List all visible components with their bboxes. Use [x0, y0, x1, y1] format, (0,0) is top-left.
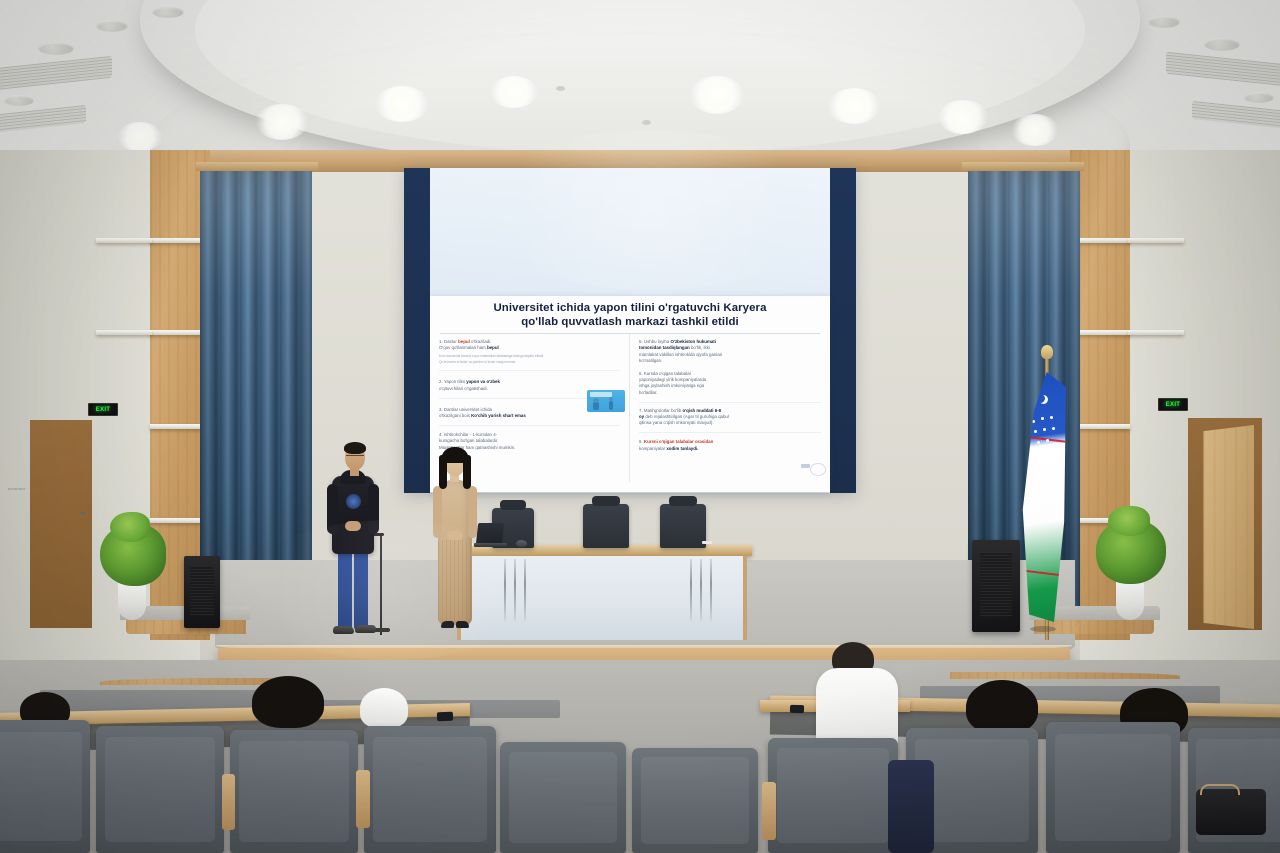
- ceiling-spotlight: [118, 122, 162, 152]
- slide-title: Universitet ichida yapon tilini o'rgatuv…: [430, 296, 830, 332]
- smartphone-icon[interactable]: [790, 705, 804, 713]
- audience-seat: [96, 726, 224, 853]
- audience-seat: [632, 748, 758, 853]
- slide-illustration-icon: [587, 390, 625, 412]
- chat-bubble-icon: [810, 463, 826, 476]
- presidium-chair: [660, 504, 706, 548]
- ceiling-speaker-grille-icon: [152, 6, 184, 18]
- ceiling-speaker-grille-icon: [38, 42, 74, 55]
- slide-bullet: 7. Mashg'ulotlar bo'lib o'qish muddati 6…: [639, 408, 821, 427]
- smoke-detector-icon: [642, 120, 651, 125]
- exit-sign-right-label: EXIT: [1166, 402, 1181, 408]
- slide-bullet: 6. Kursda o'qigan talabalar yaponiyadagi…: [639, 371, 821, 396]
- ceiling-spotlight: [690, 76, 744, 114]
- slide-title-line-2: qo'llab quvvatlash markazi tashkil etild…: [444, 316, 816, 330]
- ceiling-speaker-grille-icon: [96, 20, 128, 32]
- presidium-chair-headrest: [500, 500, 526, 510]
- wall-shelf: [96, 330, 152, 335]
- bag: [1196, 789, 1266, 835]
- presidium-chair-headrest: [669, 496, 697, 506]
- door-right-open[interactable]: [1203, 425, 1254, 629]
- screen-side-bar-left: [404, 168, 430, 493]
- slide-bullet: 4. Ishtirokchilar - 1-kursdan 4- kursgac…: [439, 432, 620, 451]
- ceiling-spotlight: [828, 88, 880, 124]
- conference-hall-photo: EXIT ROOM INFO EXIT Universitet ichida y…: [0, 0, 1280, 853]
- slide-bullet: 1. Dastur bepul o'tkaziladi. O'quv qo'll…: [439, 339, 620, 364]
- seat-armrest: [356, 770, 370, 828]
- audience-seat: [768, 738, 898, 853]
- audience-jacket: [888, 760, 934, 853]
- slide-columns: 1. Dastur bepul o'tkaziladi. O'quv qo'll…: [430, 334, 830, 482]
- door-handle-icon[interactable]: [80, 512, 86, 514]
- seat-armrest: [222, 774, 235, 830]
- audience-seat: [500, 742, 626, 853]
- smartphone-icon[interactable]: [437, 712, 453, 722]
- mouse-icon[interactable]: [516, 540, 527, 547]
- flag-base-shadow: [1030, 626, 1056, 632]
- slide-title-line-1: Universitet ichida yapon tilini o'rgatuv…: [444, 302, 816, 316]
- table-panel-line: [710, 559, 712, 621]
- audience-head-white-cap: [360, 688, 408, 728]
- wall-info-plate: ROOM INFO: [8, 488, 44, 492]
- ceiling-spotlight: [1012, 114, 1058, 146]
- papers: [702, 541, 712, 544]
- flag-finial-icon: [1041, 345, 1053, 359]
- audience-head: [966, 680, 1038, 734]
- aisle-trim: [950, 672, 1180, 679]
- presidium-chair-headrest: [592, 496, 620, 506]
- exit-sign-left-label: EXIT: [96, 407, 111, 413]
- table-panel-line: [690, 559, 692, 621]
- audience-seat: [230, 730, 358, 853]
- ceiling-spotlight: [938, 100, 988, 134]
- speaker-grille-icon: [980, 552, 1012, 618]
- curtain-rod-right: [962, 162, 1084, 171]
- audience-seat: [1046, 722, 1180, 853]
- audience-head: [252, 676, 324, 728]
- plant-foliage: [1108, 506, 1150, 536]
- smoke-detector-icon: [556, 86, 565, 91]
- speaker-grille-icon: [190, 566, 214, 616]
- presentation-slide: Universitet ichida yapon tilini o'rgatuv…: [430, 296, 830, 492]
- wall-shelf: [1128, 238, 1184, 243]
- audience-seat: [0, 720, 90, 853]
- exit-sign-left: EXIT: [88, 403, 118, 416]
- curtain-rod-left: [196, 162, 318, 171]
- slide-bullet: 8. Kursni o'qigan talabalar orasidan kom…: [639, 439, 821, 451]
- ceiling-spotlight: [375, 86, 429, 122]
- presenter-left-hair: [344, 442, 366, 454]
- ceiling-spotlight: [490, 76, 538, 108]
- plant-foliage: [110, 512, 150, 542]
- slide-badge-icon: [801, 464, 810, 468]
- seat-armrest: [762, 782, 776, 840]
- ceiling-speaker-grille-icon: [4, 95, 34, 106]
- door-left[interactable]: [36, 428, 86, 628]
- ceiling-spotlight: [256, 104, 308, 140]
- presidium-chair: [583, 504, 629, 548]
- slide-column-right: 5. Ushbu loyiha O'zbekiston hukumati tom…: [630, 334, 830, 482]
- ceiling-speaker-grille-icon: [1244, 92, 1274, 103]
- bag-handle-icon: [1200, 784, 1240, 795]
- wall-shelf: [1128, 330, 1184, 335]
- table-panel-line: [700, 559, 702, 621]
- slide-bullet: 5. Ushbu loyiha O'zbekiston hukumati tom…: [639, 339, 821, 364]
- plant-pot: [1116, 578, 1144, 620]
- exit-sign-right: EXIT: [1158, 398, 1188, 411]
- ceiling-speaker-grille-icon: [1148, 16, 1180, 28]
- presenter-right-hair-side: [463, 455, 471, 489]
- wall-shelf: [96, 238, 152, 243]
- ceiling-speaker-grille-icon: [1204, 38, 1240, 51]
- audience-seat: [364, 726, 496, 853]
- screen-side-bar-right: [830, 168, 856, 493]
- presenter-right-hair-side: [439, 455, 447, 489]
- hoodie-logo-icon: [346, 494, 361, 509]
- glasses-icon: [346, 455, 364, 460]
